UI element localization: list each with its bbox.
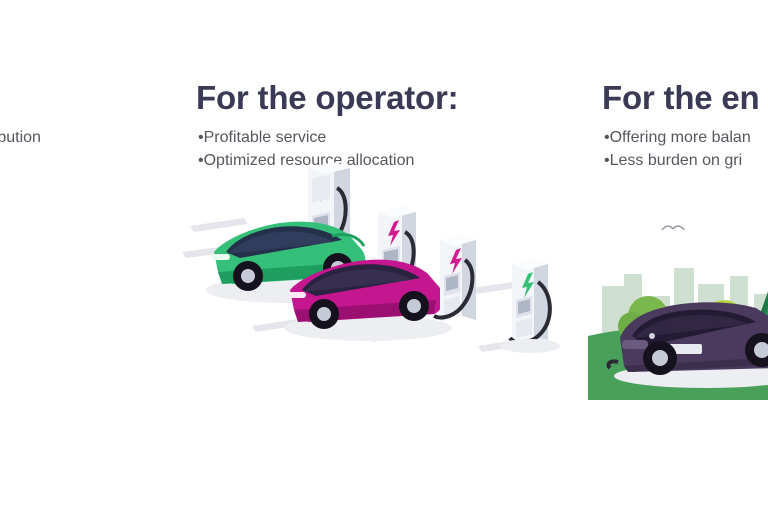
flying-bird-icon (662, 226, 684, 230)
charging-station-lot-scene (182, 140, 572, 400)
charging-station-magenta-bolt-2[interactable] (434, 234, 476, 322)
solar-carport-illustration (0, 150, 182, 410)
green-city-scene (588, 150, 768, 410)
green-city-illustration (588, 150, 768, 400)
panel-energy-heading: For the en (602, 78, 760, 118)
slide-canvas: r: stribution (0, 0, 768, 512)
panel-operator-heading: For the operator: (196, 78, 458, 118)
panel-homeowner: r: stribution (0, 0, 182, 512)
list-item: stribution (0, 126, 41, 149)
solar-carport-scene (0, 150, 182, 410)
panel-operator: For the operator: •Profitable service •O… (182, 0, 572, 512)
list-item: •Offering more balan (604, 126, 751, 149)
panel-energy-provider: For the en •Offering more balan •Less bu… (588, 0, 768, 512)
panel-homeowner-bullets: stribution (0, 126, 41, 149)
charging-lot-illustration (182, 140, 572, 410)
